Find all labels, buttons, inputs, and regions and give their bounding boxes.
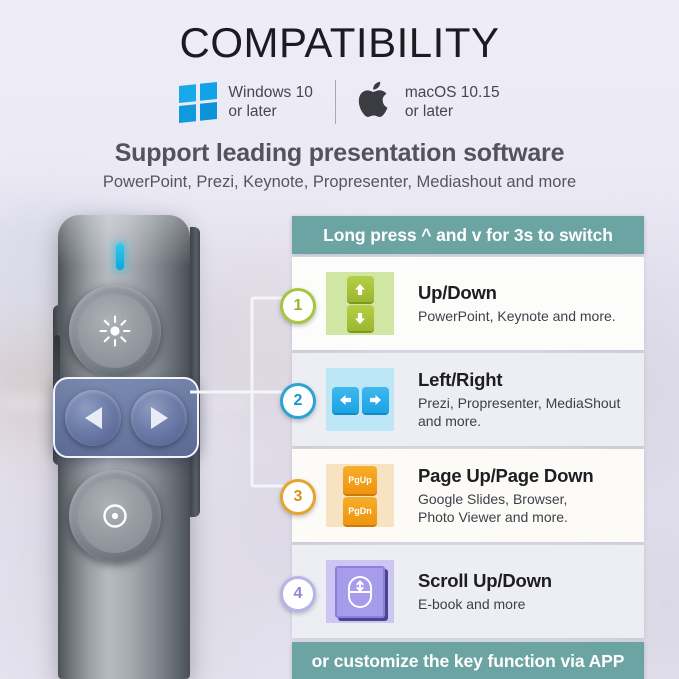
feature-title: Scroll Up/Down: [418, 570, 552, 592]
arrow-right-key-icon: [362, 387, 389, 413]
arrow-up-key-icon: [347, 276, 374, 302]
feature-row-left-right[interactable]: Left/Right Prezi, Propresenter, MediaSho…: [292, 353, 644, 446]
page-title: COMPATIBILITY: [0, 18, 679, 68]
key-tile-scroll: [326, 560, 394, 623]
key-tile-page-up-down: PgUp PgDn: [326, 464, 394, 527]
os-label-windows: Windows 10 or later: [228, 83, 312, 123]
feature-description: Google Slides, Browser, Photo Viewer and…: [418, 490, 593, 526]
os-label-macos: macOS 10.15 or later: [405, 83, 500, 123]
arrow-left-icon: [85, 407, 102, 429]
feature-row-page-up-down[interactable]: PgUp PgDn Page Up/Page Down Google Slide…: [292, 449, 644, 542]
target-dot-icon: [100, 501, 130, 531]
step-badge-3: 3: [280, 479, 316, 515]
feature-description: Prezi, Propresenter, MediaShout and more…: [418, 394, 620, 430]
key-tile-left-right: [326, 368, 394, 431]
feature-title: Left/Right: [418, 369, 620, 391]
step-badge-1: 1: [280, 288, 316, 324]
step-badge-4: 4: [280, 576, 316, 612]
supported-software-list: PowerPoint, Prezi, Keynote, Propresenter…: [0, 173, 679, 192]
feature-title: Page Up/Page Down: [418, 465, 593, 487]
os-item-windows: Windows 10 or later: [179, 83, 334, 123]
customize-app-bar: or customize the key function via APP: [292, 642, 644, 679]
arrow-down-key-icon: [347, 305, 374, 331]
device-top-highlight: [58, 215, 190, 267]
feature-description: E-book and more: [418, 595, 552, 613]
feature-panel: Long press ^ and v for 3s to switch Up/D…: [292, 216, 644, 679]
target-button[interactable]: [69, 470, 161, 562]
header: COMPATIBILITY Windows 10 or later macOS …: [0, 0, 679, 192]
feature-text-scroll: Scroll Up/Down E-book and more: [418, 570, 552, 613]
laser-sun-icon: [98, 314, 132, 348]
presentation-remote-device: [46, 205, 216, 679]
device-right-button[interactable]: [131, 390, 187, 446]
key-tile-up-down: [326, 272, 394, 335]
os-item-macos: macOS 10.15 or later: [336, 78, 500, 126]
arrow-right-icon: [151, 407, 168, 429]
switch-instruction-bar: Long press ^ and v for 3s to switch: [292, 216, 644, 254]
subheading: Support leading presentation software: [0, 139, 679, 168]
feature-title: Up/Down: [418, 282, 616, 304]
feature-text-left-right: Left/Right Prezi, Propresenter, MediaSho…: [418, 369, 620, 430]
laser-pointer-button[interactable]: [69, 285, 161, 377]
step-badge-2: 2: [280, 383, 316, 419]
mouse-scroll-icon: [335, 566, 385, 618]
page-down-key-icon: PgDn: [343, 497, 377, 525]
feature-row-up-down[interactable]: Up/Down PowerPoint, Keynote and more.: [292, 257, 644, 350]
apple-logo-icon: [358, 78, 394, 126]
feature-description: PowerPoint, Keynote and more.: [418, 307, 616, 325]
windows-logo-icon: [179, 82, 217, 123]
feature-row-scroll-up-down[interactable]: Scroll Up/Down E-book and more: [292, 545, 644, 638]
page-up-key-icon: PgUp: [343, 466, 377, 494]
device-side-edge: [190, 227, 200, 517]
direction-key-pad: [53, 377, 199, 458]
feature-text-up-down: Up/Down PowerPoint, Keynote and more.: [418, 282, 616, 325]
compatibility-infographic: COMPATIBILITY Windows 10 or later macOS …: [0, 0, 679, 679]
arrow-left-key-icon: [332, 387, 359, 413]
os-compatibility-row: Windows 10 or later macOS 10.15 or later: [0, 78, 679, 126]
device-left-button[interactable]: [65, 390, 121, 446]
feature-text-page-up-down: Page Up/Page Down Google Slides, Browser…: [418, 465, 593, 526]
status-led-indicator: [116, 243, 124, 270]
